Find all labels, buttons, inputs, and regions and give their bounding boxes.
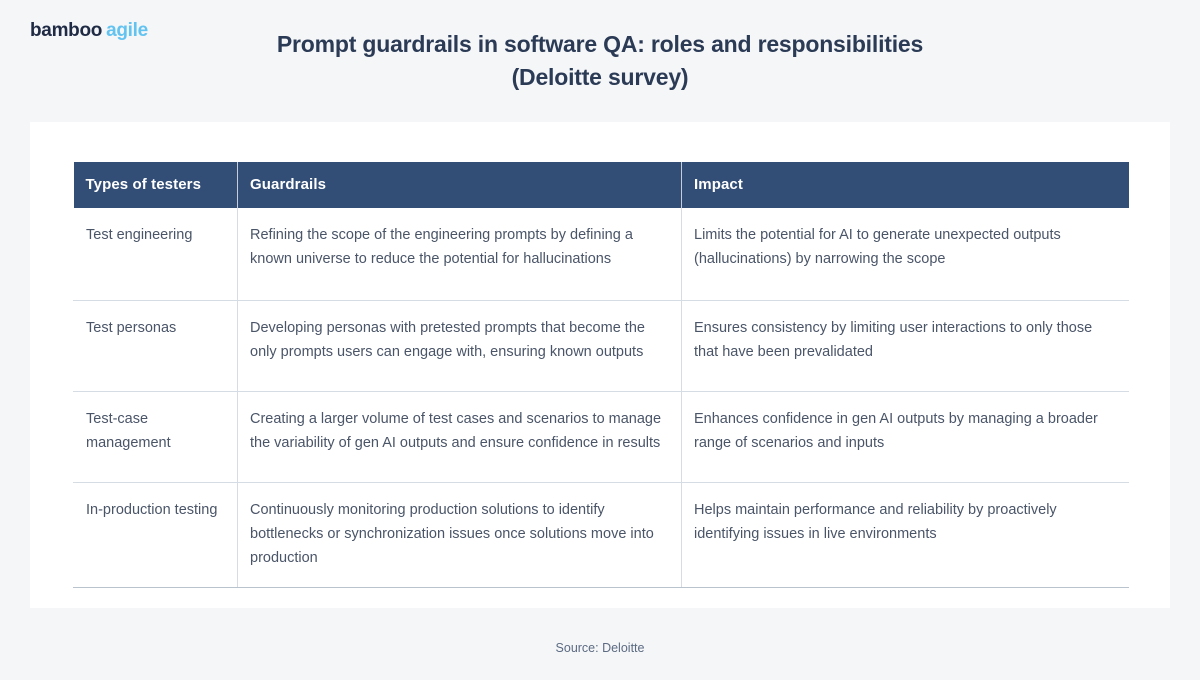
cell-guardrail: Creating a larger volume of test cases a… <box>238 391 682 482</box>
page-title: Prompt guardrails in software QA: roles … <box>170 28 1030 94</box>
cell-impact: Limits the potential for AI to generate … <box>682 208 1129 300</box>
cell-guardrail: Continuously monitoring production solut… <box>238 482 682 587</box>
cell-guardrail: Developing personas with pretested promp… <box>238 300 682 391</box>
table-row: Test engineering Refining the scope of t… <box>74 208 1129 300</box>
guardrails-table: Types of testers Guardrails Impact Test … <box>73 162 1129 588</box>
table-head: Types of testers Guardrails Impact <box>74 162 1129 208</box>
table-row: In-production testing Continuously monit… <box>74 482 1129 587</box>
cell-type-of-tester: Test personas <box>74 300 238 391</box>
table-row: Test personas Developing personas with p… <box>74 300 1129 391</box>
cell-type-of-tester: Test engineering <box>74 208 238 300</box>
table-container: Types of testers Guardrails Impact Test … <box>73 162 1128 588</box>
column-header-impact: Impact <box>682 162 1129 208</box>
page-title-line-2: (Deloitte survey) <box>170 61 1030 94</box>
cell-type-of-tester: Test-case management <box>74 391 238 482</box>
brand-logo-accent: agile <box>106 20 148 41</box>
brand-logo: bambooagile <box>30 19 148 43</box>
cell-type-of-tester: In-production testing <box>74 482 238 587</box>
cell-impact: Enhances confidence in gen AI outputs by… <box>682 391 1129 482</box>
cell-guardrail: Refining the scope of the engineering pr… <box>238 208 682 300</box>
column-header-types-of-testers: Types of testers <box>74 162 238 208</box>
brand-logo-primary: bamboo <box>30 20 102 41</box>
table-row: Test-case management Creating a larger v… <box>74 391 1129 482</box>
content-card: Types of testers Guardrails Impact Test … <box>30 122 1170 608</box>
cell-impact: Ensures consistency by limiting user int… <box>682 300 1129 391</box>
table-header-row: Types of testers Guardrails Impact <box>74 162 1129 208</box>
cell-impact: Helps maintain performance and reliabili… <box>682 482 1129 587</box>
table-body: Test engineering Refining the scope of t… <box>74 208 1129 587</box>
page-title-line-1: Prompt guardrails in software QA: roles … <box>170 28 1030 61</box>
source-attribution: Source: Deloitte <box>0 640 1200 657</box>
infographic-page: bambooagile Prompt guardrails in softwar… <box>0 0 1200 680</box>
column-header-guardrails: Guardrails <box>238 162 682 208</box>
